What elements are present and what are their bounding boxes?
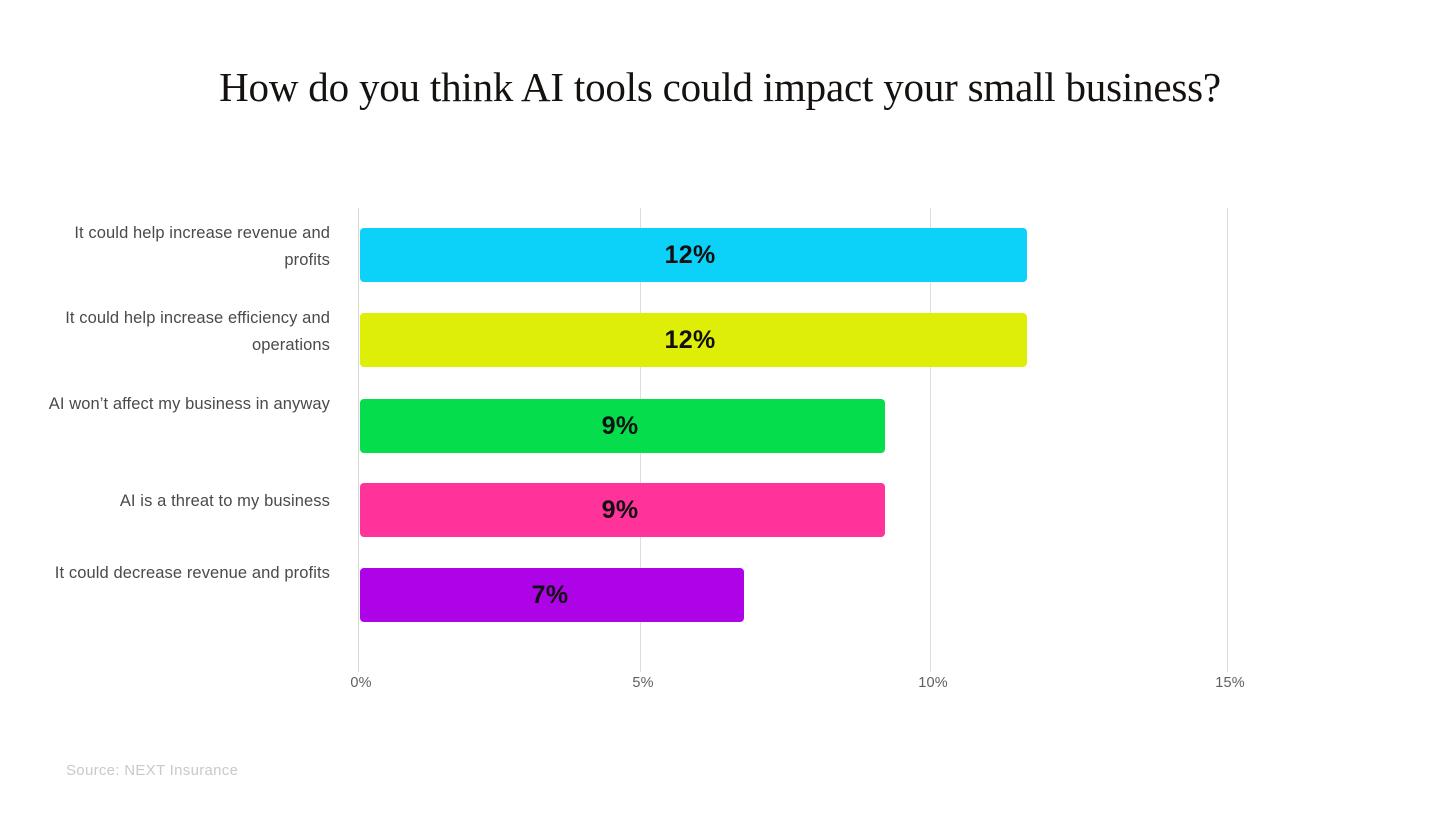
x-tick-label-0: 0% xyxy=(350,675,371,691)
bar-value-3: 9% xyxy=(602,483,639,537)
x-tick-label-2: 10% xyxy=(918,675,948,691)
bar-value-1: 12% xyxy=(665,313,716,367)
gridline-0 xyxy=(358,208,359,672)
category-label-0: It could help increase revenue and profi… xyxy=(40,220,330,274)
source-note: Source: NEXT Insurance xyxy=(66,762,238,779)
category-label-1: It could help increase efficiency and op… xyxy=(40,305,330,359)
bar-value-2: 9% xyxy=(602,399,639,453)
category-label-2: AI won’t affect my business in anyway xyxy=(40,391,330,418)
plot-area: 0% 5% 10% 15% It could help increase rev… xyxy=(0,0,1440,816)
gridline-15 xyxy=(1227,208,1228,672)
bar-value-4: 7% xyxy=(532,568,569,622)
category-label-4: It could decrease revenue and profits xyxy=(40,560,330,587)
bar-value-0: 12% xyxy=(665,228,716,282)
chart-container: How do you think AI tools could impact y… xyxy=(0,0,1440,816)
x-tick-label-1: 5% xyxy=(632,675,653,691)
category-label-3: AI is a threat to my business xyxy=(40,488,330,515)
x-tick-label-3: 15% xyxy=(1215,675,1245,691)
